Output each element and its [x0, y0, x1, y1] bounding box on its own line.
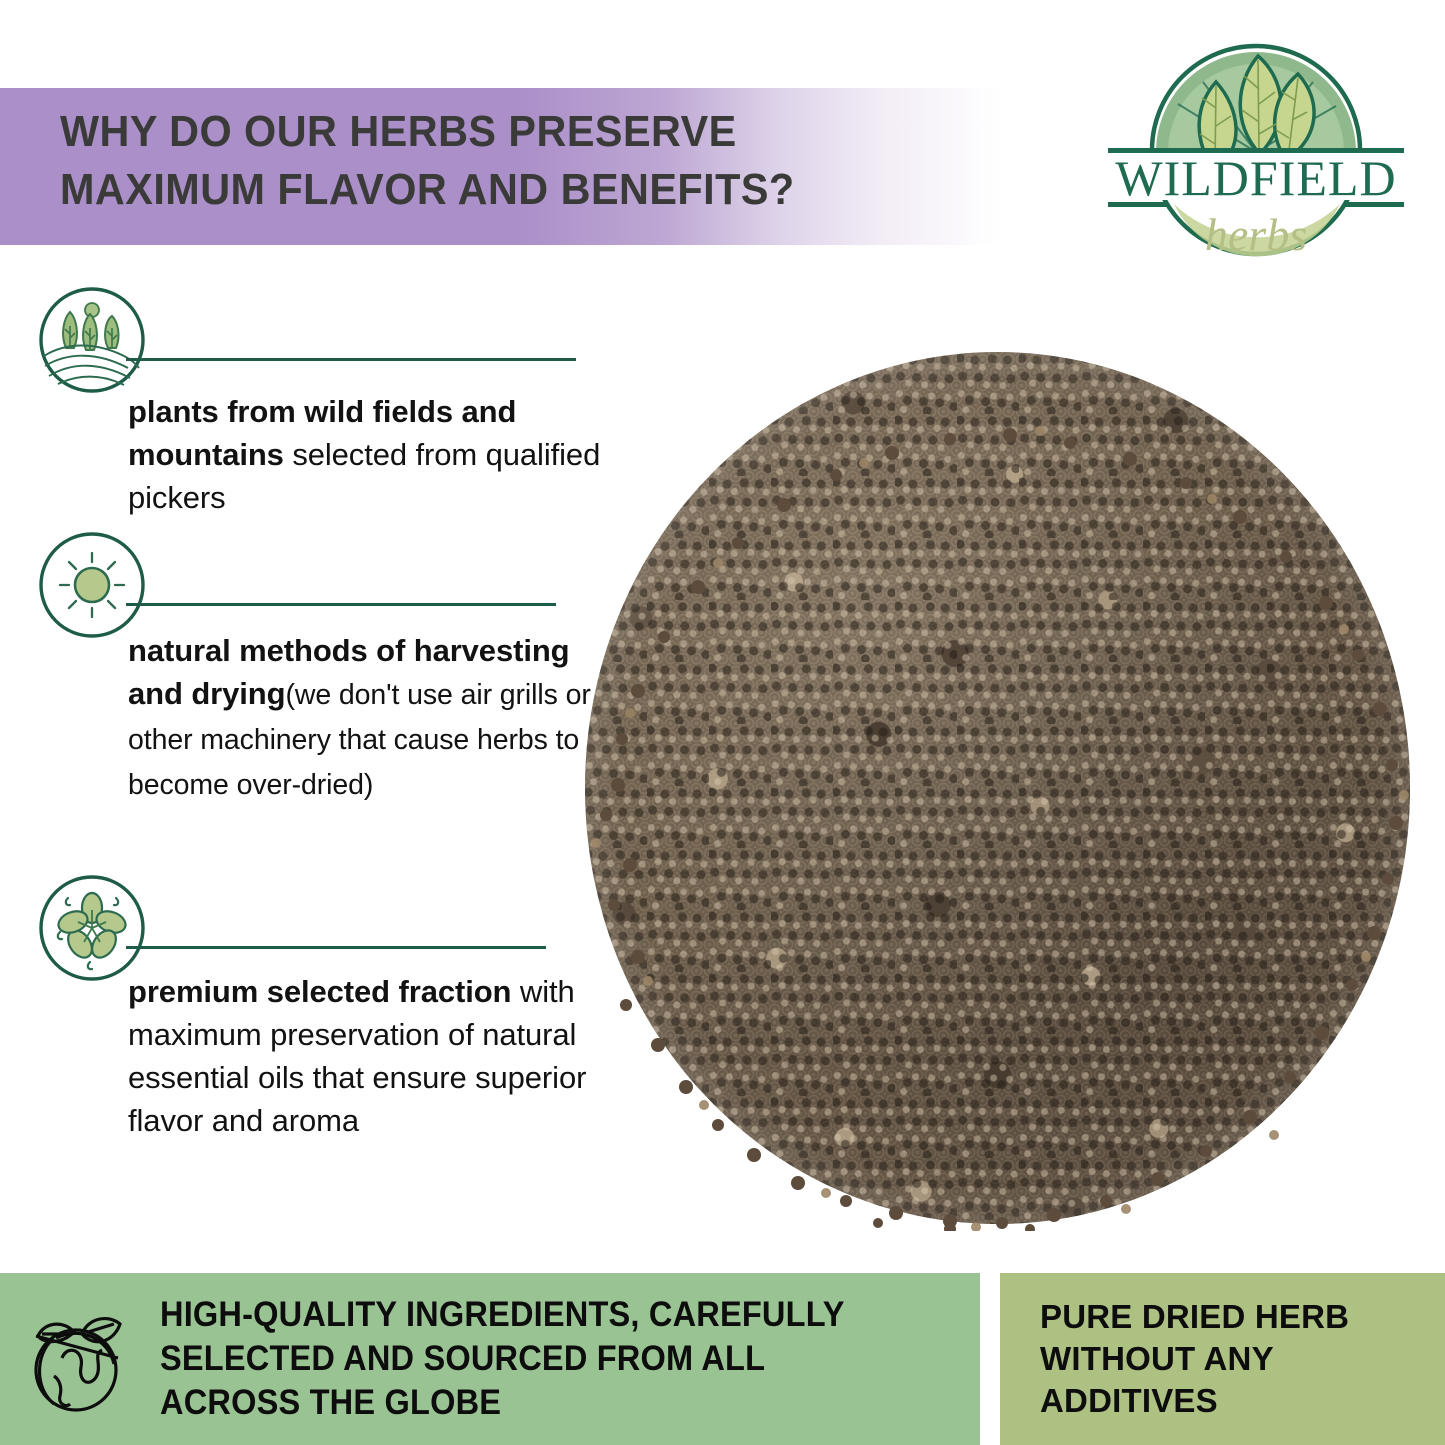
wild-field-trees-icon	[38, 286, 146, 394]
feature-divider	[126, 946, 546, 949]
feature-description: plants from wild fields and mountains se…	[128, 390, 608, 519]
logo-brand-name: WILDFIELD	[1115, 150, 1396, 206]
leaves-badge-icon: WILDFIELD herbs	[1108, 34, 1404, 266]
logo-brand-sub: herbs	[1205, 209, 1307, 260]
globe-leaf-icon	[22, 1292, 134, 1418]
feature-description: premium selected fraction with maximum p…	[128, 970, 608, 1142]
flower-essential-oil-icon	[38, 874, 146, 982]
feature-bold-text: premium selected fraction	[128, 974, 511, 1009]
feature-divider	[126, 358, 576, 361]
feature-description: natural methods of harvesting and drying…	[128, 629, 608, 807]
brand-logo: WILDFIELD herbs	[1108, 34, 1404, 266]
herb-edge-shade	[585, 352, 1410, 1224]
sun-drying-icon	[38, 531, 146, 639]
bottom-bar-ingredients-text: HIGH-QUALITY INGREDIENTS, CAREFULLY SELE…	[160, 1293, 904, 1425]
page-title: WHY DO OUR HERBS PRESERVE MAXIMUM FLAVOR…	[60, 103, 962, 219]
dried-herb-pile-image	[585, 352, 1410, 1224]
bottom-bar-pure-herb-text: PURE DRIED HERB WITHOUT ANY ADDITIVES	[1040, 1296, 1440, 1422]
feature-divider	[126, 603, 556, 606]
